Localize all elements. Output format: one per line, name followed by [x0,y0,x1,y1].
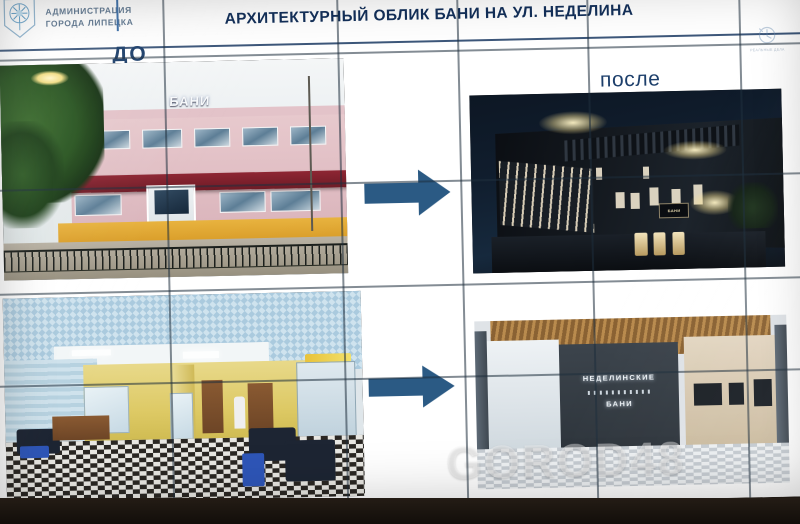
window [631,193,641,209]
ceiling-light [183,351,219,358]
administration-name: АДМИНИСТРАЦИЯ ГОРОДА ЛИПЕЦКА [45,3,133,30]
display-stand [169,393,193,441]
feature-wall [559,342,680,449]
ceiling-light [72,350,111,357]
tree [0,120,65,229]
ground-level [491,231,766,273]
administration-logo: АДМИНИСТРАЦИЯ ГОРОДА ЛИПЕЦКА [2,0,134,40]
window [649,187,659,205]
slide-title: АРХИТЕКТУРНЫЙ ОБЛИК БАНИ НА УЛ. НЕДЕЛИНА [224,2,633,29]
window [615,192,625,208]
bollard [672,231,685,254]
wall-panel [753,379,772,406]
window [194,127,231,147]
transition-arrow-bottom [366,362,457,412]
person [234,396,245,429]
roof-sign: БАНИ [131,88,248,114]
patterned-floor [477,442,790,489]
window [219,191,266,213]
presentation-slide: АДМИНИСТРАЦИЯ ГОРОДА ЛИПЕЦКА АРХИТЕКТУРН… [0,0,800,514]
transition-arrow-top [362,166,453,220]
counter [52,415,110,441]
entrance-plaque-text: БАНИ [668,208,681,213]
person-seated [242,453,264,486]
secondary-logo-caption: РЕАЛЬНЫЕ ДЕЛА [750,48,785,53]
org-line-2: ГОРОДА ЛИПЕЦКА [46,16,134,30]
window [142,128,182,148]
render-new-exterior: БАНИ [469,89,785,274]
photo-old-exterior: БАНИ [0,58,348,280]
render-new-interior: НЕДЕЛИНСКИЕ БАНИ [474,315,790,490]
interior-door [248,383,274,433]
photo-old-interior [3,291,365,504]
bollard [653,232,666,255]
room-wall-bottom [0,498,800,524]
illuminated-fins [499,161,594,233]
shrub [727,181,778,228]
wall-panel [728,383,744,405]
left-glazing [484,340,561,456]
photo-canvas: АДМИНИСТРАЦИЯ ГОРОДА ЛИПЕЦКА АРХИТЕКТУРН… [0,0,800,524]
caption-after: после [600,67,661,92]
entrance-plaque: БАНИ [659,203,689,218]
bollard [635,232,648,255]
city-crest-icon [2,0,37,40]
window [643,166,650,179]
wall-panel [694,383,723,405]
window [242,126,279,146]
bench-cushion [20,445,49,458]
window [271,190,322,212]
roof-sign-text: БАНИ [169,93,211,109]
window [596,167,603,180]
bezel-seam-horizontal [0,276,800,296]
video-wall: АДМИНИСТРАЦИЯ ГОРОДА ЛИПЕЦКА АРХИТЕКТУРН… [0,0,800,514]
bezel-seam-vertical [456,0,469,504]
interior-door [201,380,224,434]
seating [285,439,336,481]
secondary-program-logo-icon: РЕАЛЬНЫЕ ДЕЛА [747,25,788,62]
